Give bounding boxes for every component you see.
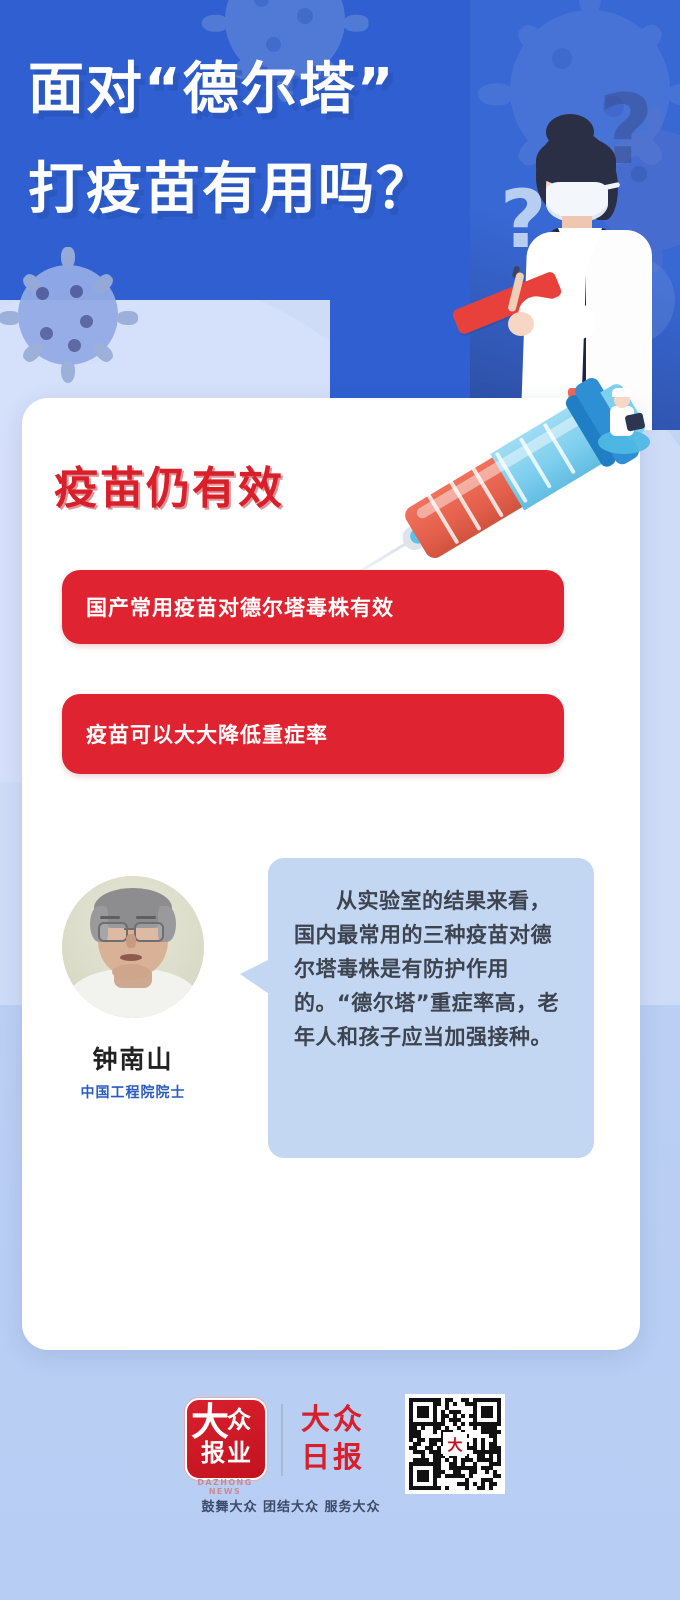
logo-divider xyxy=(281,1404,283,1476)
expert-avatar xyxy=(62,876,204,1018)
expert-quote: 从实验室的结果来看，国内最常用的三种疫苗对德尔塔毒株是有防护作用的。“德尔塔”重… xyxy=(294,884,568,1054)
infographic-poster: ? ? 面对“德尔塔” 打疫苗有用吗？ xyxy=(0,0,680,1600)
logo-english-name: DAZHONG NEWS xyxy=(185,1478,265,1496)
virus-icon xyxy=(18,265,118,365)
poster-title-line1: 面对“德尔塔” xyxy=(28,62,396,118)
card-headline: 疫苗仍有效 xyxy=(54,452,284,516)
brand-line-2: 日报 xyxy=(301,1438,391,1476)
logo-sub-baoye: 报业 xyxy=(193,1440,261,1466)
speech-bubble: 从实验室的结果来看，国内最常用的三种疫苗对德尔塔毒株是有防护作用的。“德尔塔”重… xyxy=(268,858,594,1158)
dazhong-logo-mark: 大 众 报业 xyxy=(185,1398,267,1480)
fact-banner-2: 疫苗可以大大降低重症率 xyxy=(62,694,564,774)
qr-center-logo: 大 xyxy=(443,1432,467,1456)
footer: 大 众 报业 DAZHONG NEWS 大众 日报 鼓舞大众 团结大众 服务大众… xyxy=(0,1372,680,1572)
fact-banner-1: 国产常用疫苗对德尔塔毒株有效 xyxy=(62,570,564,644)
footer-slogan: 鼓舞大众 团结大众 服务大众 xyxy=(181,1496,401,1515)
expert-name: 钟南山 xyxy=(62,1040,204,1076)
poster-title-line2: 打疫苗有用吗？ xyxy=(28,162,434,218)
logo-char-zhong: 众 xyxy=(227,1406,263,1438)
qr-code-icon[interactable]: 大 xyxy=(405,1394,505,1494)
brand-line-1: 大众 xyxy=(301,1400,391,1438)
expert-title: 中国工程院院士 xyxy=(52,1082,214,1102)
